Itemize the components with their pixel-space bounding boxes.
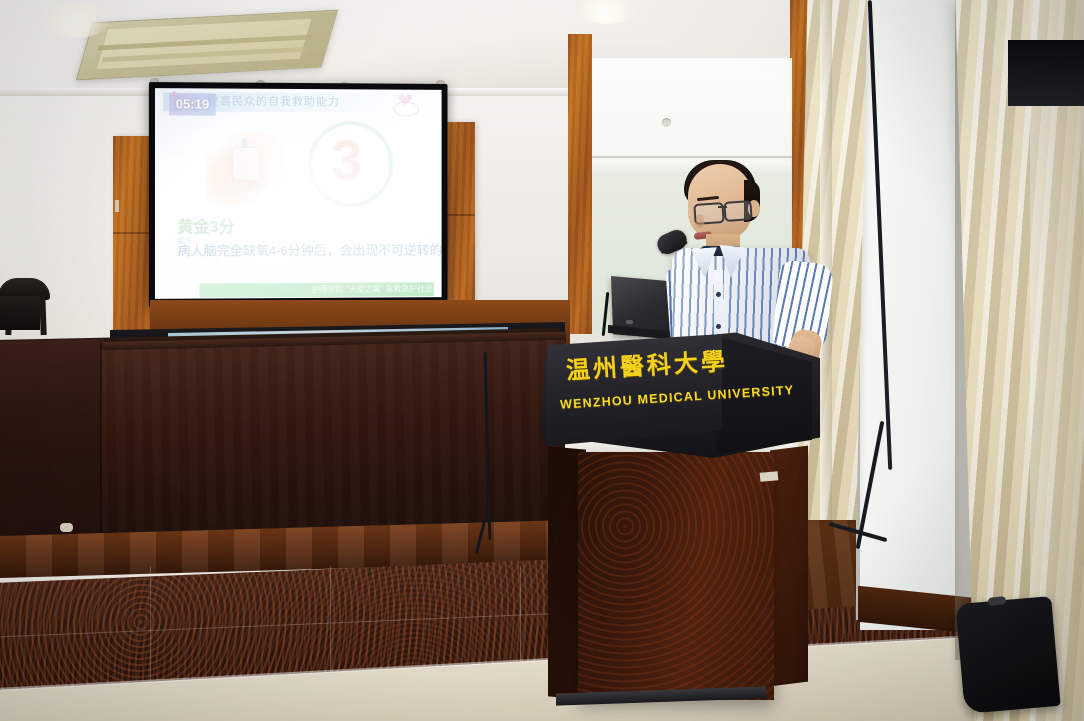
podium-sticker: [760, 471, 779, 482]
wall-speaker: [1008, 40, 1084, 106]
ceiling-downlight: [40, 2, 110, 38]
presentation-slide: 提高民众的自我救助能力 05:19 3 黄金3分 提示 病人脑完全缺氧4-6分钟…: [155, 88, 442, 299]
cable-clip: [60, 523, 73, 532]
panel-latch: [115, 200, 119, 212]
speaker-nose: [696, 214, 704, 228]
laptop-logo: [626, 320, 633, 324]
lecture-hall-photo: 提高民众的自我救助能力 05:19 3 黄金3分 提示 病人脑完全缺氧4-6分钟…: [0, 0, 1084, 721]
wood-pilaster-right: [568, 34, 592, 334]
eyeglasses-bridge: [718, 206, 727, 208]
projection-screen[interactable]: 提高民众的自我救助能力 05:19 3 黄金3分 提示 病人脑完全缺氧4-6分钟…: [149, 82, 448, 307]
podium-body-side: [770, 446, 808, 687]
curtain-fold: [820, 0, 832, 520]
glass-panel-knob: [662, 118, 671, 127]
chair-seat: [0, 296, 40, 330]
bench-panel-left: [0, 339, 104, 543]
shirt-button: [716, 292, 721, 297]
podium-body: [578, 452, 774, 700]
projector-glare: [155, 88, 442, 299]
black-bag: [955, 596, 1060, 714]
bench-panel-main: [100, 340, 565, 551]
eyeglasses-right-lens: [723, 200, 752, 222]
bench-panel-seam: [100, 343, 102, 543]
shirt-button: [716, 324, 721, 329]
projection-screen-surface: 提高民众的自我救助能力 05:19 3 黄金3分 提示 病人脑完全缺氧4-6分钟…: [155, 88, 442, 299]
glass-panel-divider: [592, 156, 792, 158]
